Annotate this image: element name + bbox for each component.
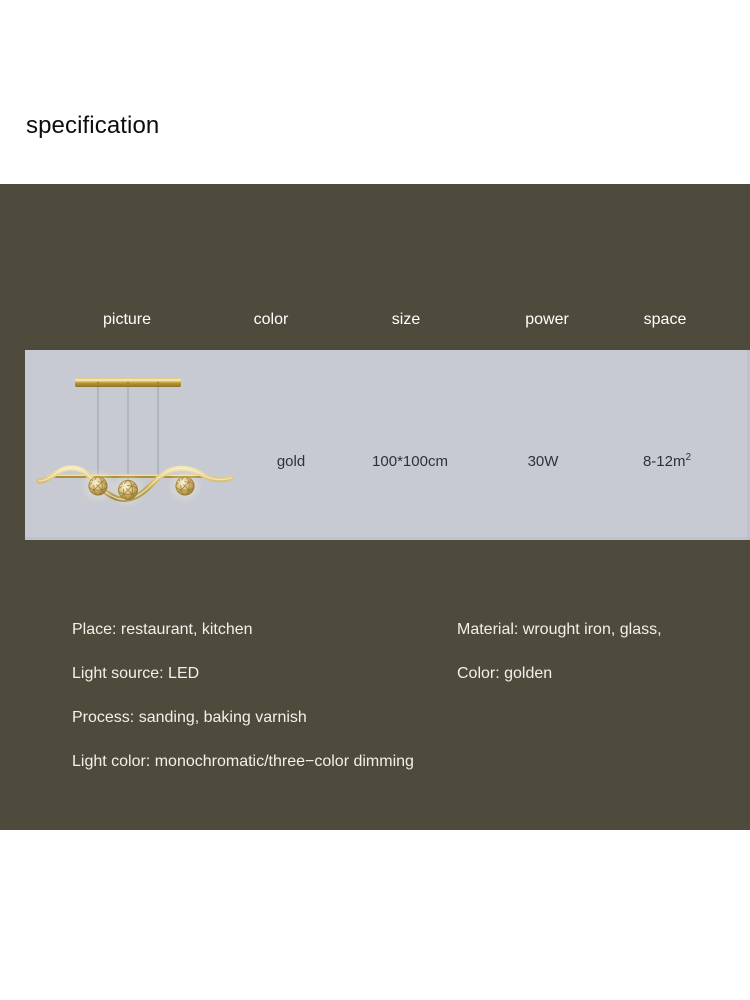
detail-light-color: Light color: monochromatic/three−color d… [72, 752, 414, 771]
detail-place: Place: restaurant, kitchen [72, 620, 253, 639]
faded-watermark-text [30, 566, 490, 586]
column-header-power: power [525, 310, 569, 329]
detail-material: Material: wrought iron, glass, [457, 620, 662, 639]
column-header-picture: picture [103, 310, 151, 329]
cell-space-value: 8-12m [643, 453, 686, 470]
product-image [25, 350, 250, 540]
ceiling-mount-bar [75, 378, 181, 387]
suspension-wires [98, 387, 158, 481]
cell-color: gold [277, 453, 305, 471]
crystal-ball-light-2 [110, 472, 146, 508]
detail-color: Color: golden [457, 664, 552, 683]
cell-power: 30W [528, 453, 559, 471]
cell-space: 8-12m2 [643, 453, 691, 471]
detail-process: Process: sanding, baking varnish [72, 708, 307, 727]
cell-space-unit-exponent: 2 [685, 452, 691, 463]
crystal-ball-light-3 [167, 468, 203, 504]
page-title: specification [26, 114, 159, 138]
cell-size: 100*100cm [372, 453, 448, 471]
column-header-size: size [392, 310, 420, 329]
column-header-space: space [644, 310, 687, 329]
column-header-color: color [254, 310, 289, 329]
detail-light-source: Light source: LED [72, 664, 199, 683]
